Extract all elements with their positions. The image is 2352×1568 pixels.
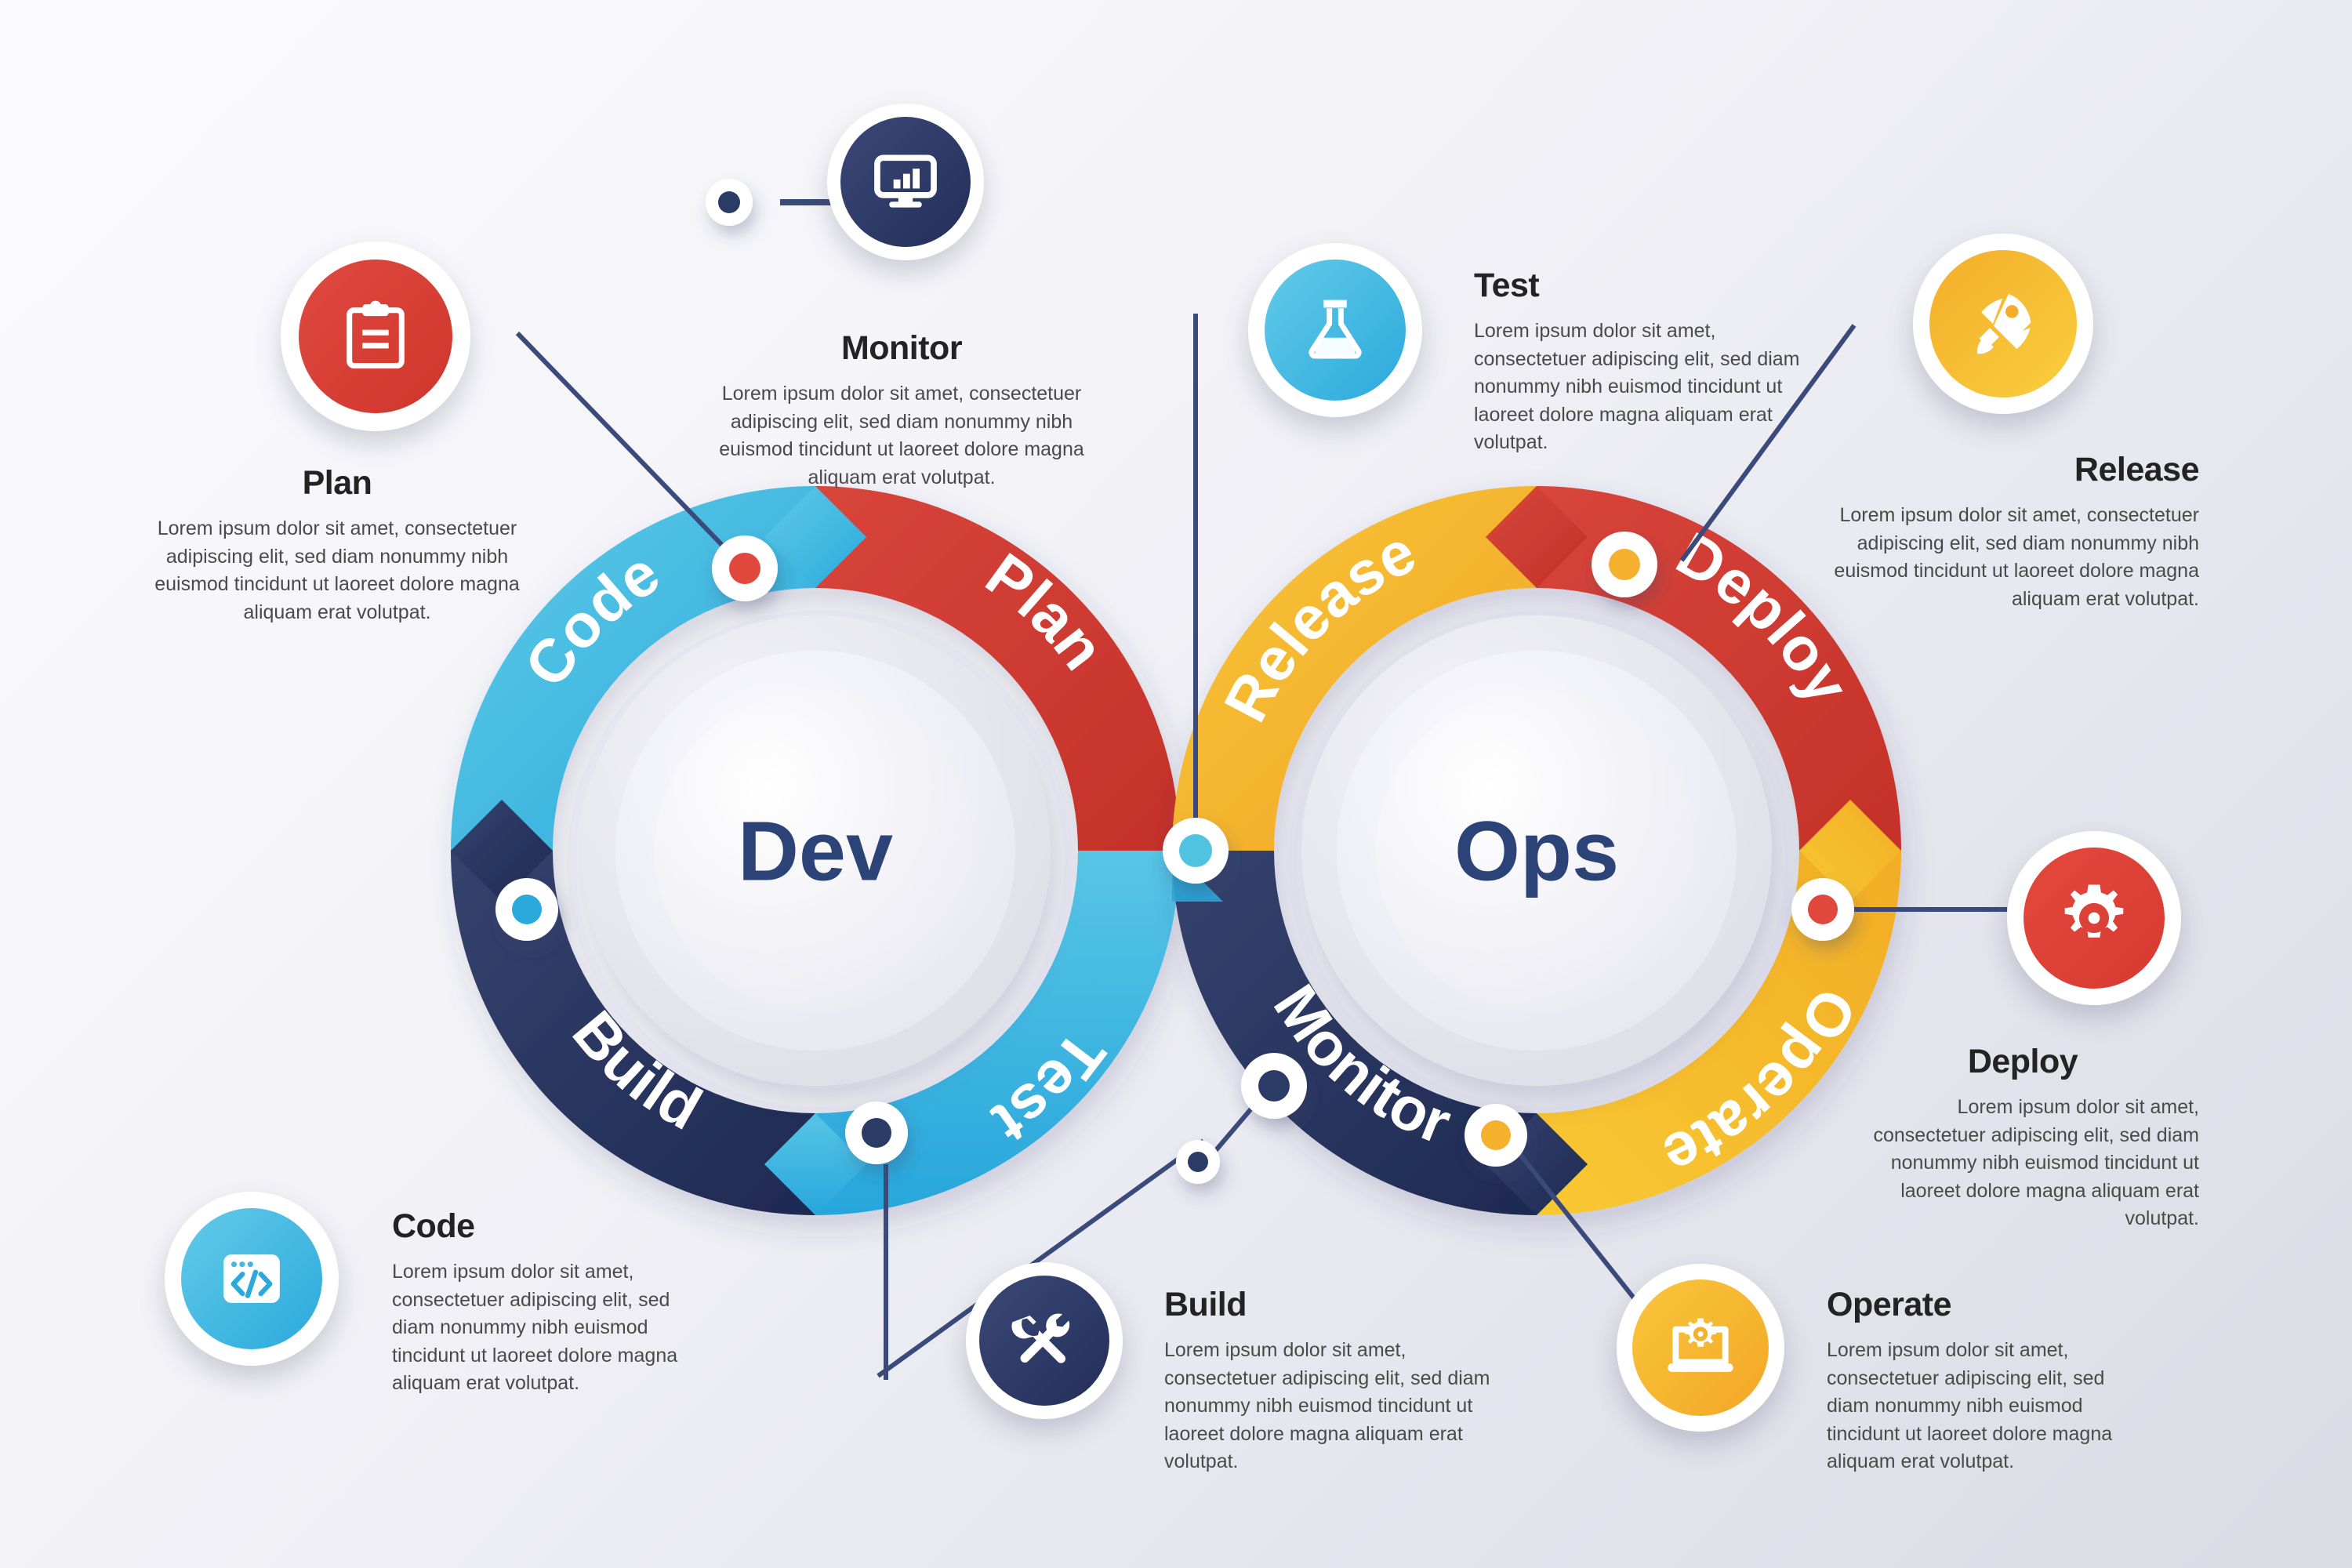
marker-release-deploy[interactable] — [1609, 549, 1640, 580]
dev-label: Dev — [738, 804, 893, 898]
callout-body-test: Lorem ipsum dolor sit amet, consectetuer… — [1474, 318, 1811, 457]
infographic-canvas: Dev Ops Plan Code Build Test Release Dep… — [0, 0, 2352, 1568]
callout-code: Code Lorem ipsum dolor sit amet, consect… — [392, 1207, 717, 1398]
callout-body-plan: Lorem ipsum dolor sit amet, consectetuer… — [149, 515, 525, 626]
clipboard-icon — [336, 297, 415, 376]
marker-operate-monitor[interactable] — [1481, 1120, 1511, 1150]
badge-release[interactable] — [1913, 234, 2093, 414]
callout-body-monitor: Lorem ipsum dolor sit amet, consectetuer… — [713, 380, 1090, 492]
callout-body-release: Lorem ipsum dolor sit amet, consectetuer… — [1827, 502, 2199, 613]
badge-deploy[interactable] — [2007, 831, 2181, 1005]
callout-body-deploy: Lorem ipsum dolor sit amet, consectetuer… — [1846, 1094, 2199, 1233]
callout-deploy: Deploy Lorem ipsum dolor sit amet, conse… — [1846, 1043, 2199, 1233]
callout-monitor: Monitor Lorem ipsum dolor sit amet, cons… — [713, 329, 1090, 492]
laptop-gear-icon — [1661, 1308, 1740, 1387]
marker-code-build[interactable] — [512, 895, 542, 924]
badge-build[interactable] — [966, 1262, 1123, 1419]
dev-center: Dev — [580, 615, 1051, 1086]
flask-icon — [1297, 292, 1374, 368]
ops-center: Ops — [1301, 615, 1772, 1086]
marker-plan-code[interactable] — [729, 553, 760, 584]
callout-title-deploy: Deploy — [1846, 1043, 2199, 1081]
code-window-icon — [212, 1240, 291, 1318]
callout-title-plan: Plan — [149, 464, 525, 503]
badge-test[interactable] — [1248, 243, 1422, 417]
badge-operate[interactable] — [1617, 1264, 1784, 1432]
gear-icon — [2053, 877, 2135, 959]
callout-body-code: Lorem ipsum dolor sit amet, consectetuer… — [392, 1258, 717, 1398]
callout-title-monitor: Monitor — [713, 329, 1090, 368]
callout-title-test: Test — [1474, 267, 1811, 305]
callout-plan: Plan Lorem ipsum dolor sit amet, consect… — [149, 464, 525, 626]
rocket-icon — [1962, 283, 2044, 365]
marker-monitor-dot[interactable] — [1188, 1152, 1208, 1172]
marker-deploy-operate[interactable] — [1808, 895, 1838, 924]
badge-plan[interactable] — [281, 241, 470, 431]
callout-body-build: Lorem ipsum dolor sit amet, consectetuer… — [1164, 1337, 1494, 1476]
tools-icon — [1007, 1303, 1082, 1378]
badge-monitor[interactable] — [827, 103, 984, 260]
callout-title-operate: Operate — [1827, 1286, 2152, 1324]
monitor-chart-icon — [869, 146, 942, 218]
marker-monitor-start[interactable] — [1258, 1070, 1290, 1102]
callout-release: Release Lorem ipsum dolor sit amet, cons… — [1827, 451, 2199, 613]
badge-code[interactable] — [165, 1192, 339, 1366]
callout-test: Test Lorem ipsum dolor sit amet, consect… — [1474, 267, 1811, 457]
marker-build-test[interactable] — [862, 1118, 891, 1148]
callout-title-build: Build — [1164, 1286, 1494, 1324]
marker-monitor-top-dot[interactable] — [718, 191, 740, 213]
callout-title-release: Release — [1827, 451, 2199, 489]
ops-label: Ops — [1454, 804, 1619, 898]
callout-body-operate: Lorem ipsum dolor sit amet, consectetuer… — [1827, 1337, 2152, 1476]
callout-title-code: Code — [392, 1207, 717, 1246]
callout-build: Build Lorem ipsum dolor sit amet, consec… — [1164, 1286, 1494, 1476]
callout-operate: Operate Lorem ipsum dolor sit amet, cons… — [1827, 1286, 2152, 1476]
marker-center-cross[interactable] — [1179, 834, 1212, 867]
